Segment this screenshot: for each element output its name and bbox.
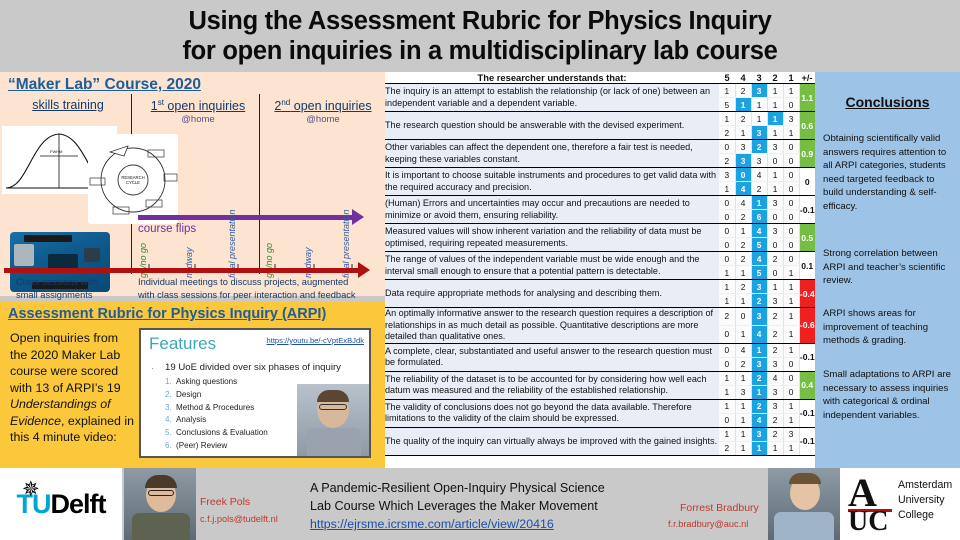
svg-text:FWHM: FWHM bbox=[50, 149, 62, 154]
score-cell: 1 bbox=[719, 371, 735, 385]
score-cell: 2 bbox=[735, 280, 751, 294]
auc-wordmark: Amsterdam University College bbox=[898, 478, 952, 523]
score-cell: 4 bbox=[751, 413, 767, 427]
score-cell: 0 bbox=[783, 238, 799, 252]
course-flips-arrow bbox=[138, 215, 353, 220]
score-cell: 2 bbox=[719, 154, 735, 168]
auc-mark-uc: UC bbox=[848, 508, 888, 536]
table-row: An optimally informative answer to the r… bbox=[385, 308, 815, 326]
table-row: The inquiry is an attempt to establish t… bbox=[385, 84, 815, 98]
score-cell: 0 bbox=[719, 238, 735, 252]
score-cell: 2 bbox=[751, 140, 767, 154]
course-flips-label: course flips bbox=[138, 223, 196, 235]
score-cell: 1 bbox=[719, 84, 735, 98]
score-cell: 1 bbox=[783, 294, 799, 308]
phase-heading-skills-training: skills training bbox=[8, 98, 128, 112]
score-cell: 1 bbox=[783, 413, 799, 427]
conclusion-paragraph-2: Strong correlation between ARPI and teac… bbox=[823, 247, 955, 288]
column-header-score-3: 3 bbox=[751, 72, 767, 84]
rubric-statement-cell: The range of values of the independent v… bbox=[385, 252, 719, 280]
rubric-table-panel: The researcher understands that: 5 4 3 2… bbox=[385, 72, 815, 468]
score-cell: 3 bbox=[767, 224, 783, 238]
score-cell: 0 bbox=[767, 154, 783, 168]
score-cell: 1 bbox=[783, 280, 799, 294]
rubric-statement-cell: A complete, clear, substantiated and use… bbox=[385, 343, 719, 371]
score-cell: 0 bbox=[783, 98, 799, 112]
score-cell: 3 bbox=[783, 112, 799, 126]
score-cell: 0 bbox=[719, 210, 735, 224]
score-cell: 1 bbox=[719, 182, 735, 196]
rubric-table: The researcher understands that: 5 4 3 2… bbox=[385, 72, 815, 456]
score-cell: 3 bbox=[767, 357, 783, 371]
author-email-forrest-bradbury: f.r.bradbury@auc.nl bbox=[668, 519, 748, 529]
score-cell: 0 bbox=[719, 224, 735, 238]
score-cell: 6 bbox=[751, 210, 767, 224]
delta-cell: 0.6 bbox=[799, 112, 815, 140]
score-cell: 1 bbox=[735, 294, 751, 308]
score-cell: 2 bbox=[751, 182, 767, 196]
video-phase-item: 5.Conclusions & Evaluation bbox=[165, 427, 268, 440]
score-cell: 1 bbox=[783, 126, 799, 140]
delta-cell: -0.1 bbox=[799, 399, 815, 427]
delta-cell: 0.1 bbox=[799, 252, 815, 280]
score-cell: 3 bbox=[751, 154, 767, 168]
rubric-statement-cell: It is important to choose suitable instr… bbox=[385, 168, 719, 196]
score-cell: 1 bbox=[719, 280, 735, 294]
video-bullet-line: · 19 UoE divided over six phases of inqu… bbox=[151, 362, 341, 373]
table-row: (Human) Errors and uncertainties may occ… bbox=[385, 196, 815, 210]
delta-cell: 1.1 bbox=[799, 84, 815, 112]
score-cell: 1 bbox=[751, 98, 767, 112]
score-cell: 1 bbox=[735, 413, 751, 427]
score-cell: 4 bbox=[735, 182, 751, 196]
video-phase-item: 2.Design bbox=[165, 389, 268, 402]
rubric-statement-cell: The inquiry is an attempt to establish t… bbox=[385, 84, 719, 112]
score-cell: 1 bbox=[719, 266, 735, 280]
score-cell: 2 bbox=[767, 252, 783, 266]
arpi-description-part1: Open inquiries from the 2020 Maker Lab c… bbox=[10, 331, 121, 395]
auc-line-3: College bbox=[898, 508, 952, 523]
score-cell: 1 bbox=[735, 427, 751, 441]
paper-url-link[interactable]: https://ejrsme.icrsme.com/article/view/2… bbox=[310, 517, 554, 531]
score-cell: 2 bbox=[719, 441, 735, 455]
video-bullet-text: 19 UoE divided over six phases of inquir… bbox=[165, 362, 341, 373]
phase2-sup: nd bbox=[281, 98, 290, 107]
video-features-heading: Features bbox=[149, 334, 216, 354]
score-cell: 2 bbox=[735, 210, 751, 224]
score-cell: 1 bbox=[735, 98, 751, 112]
score-cell: 1 bbox=[735, 371, 751, 385]
score-cell: 0 bbox=[719, 140, 735, 154]
score-cell: 1 bbox=[767, 441, 783, 455]
rubric-statement-cell: Measured values will show inherent varia… bbox=[385, 224, 719, 252]
score-cell: 0 bbox=[719, 343, 735, 357]
score-cell: 0 bbox=[735, 308, 751, 326]
phase1-text: open inquiries bbox=[164, 99, 245, 113]
score-cell: 2 bbox=[751, 371, 767, 385]
phase2-sublabel: @home bbox=[262, 114, 384, 125]
score-cell: 1 bbox=[767, 126, 783, 140]
score-cell: 2 bbox=[767, 325, 783, 343]
author-name-forrest-bradbury: Forrest Bradbury bbox=[680, 502, 759, 514]
bullet-dot-icon: · bbox=[151, 363, 154, 374]
table-row: The validity of conclusions does not go … bbox=[385, 399, 815, 413]
score-cell: 0 bbox=[783, 385, 799, 399]
score-cell: 0 bbox=[719, 196, 735, 210]
rubric-statement-cell: The reliability of the dataset is to be … bbox=[385, 371, 719, 399]
rubric-statement-cell: The validity of conclusions does not go … bbox=[385, 399, 719, 427]
rubric-statement-cell: (Human) Errors and uncertainties may occ… bbox=[385, 196, 719, 224]
poster-title-line-2: for open inquiries in a multidisciplinar… bbox=[182, 36, 777, 66]
column-header-score-5: 5 bbox=[719, 72, 735, 84]
score-cell: 1 bbox=[751, 441, 767, 455]
poster-header: Using the Assessment Rubric for Physics … bbox=[0, 0, 960, 72]
score-cell: 1 bbox=[735, 224, 751, 238]
video-phase-list: 1.Asking questions 2.Design 3.Method & P… bbox=[165, 376, 268, 453]
score-cell: 0 bbox=[719, 325, 735, 343]
score-cell: 3 bbox=[767, 399, 783, 413]
score-cell: 1 bbox=[719, 294, 735, 308]
score-cell: 1 bbox=[735, 126, 751, 140]
author-name-freek-pols: Freek Pols bbox=[200, 496, 250, 508]
score-cell: 3 bbox=[767, 294, 783, 308]
score-cell: 2 bbox=[767, 308, 783, 326]
paper-title-line-1: A Pandemic-Resilient Open-Inquiry Physic… bbox=[310, 481, 605, 495]
score-cell: 3 bbox=[751, 357, 767, 371]
conclusion-paragraph-4: Small adaptations to ARPI are necessary … bbox=[823, 368, 955, 422]
rubric-statement-cell: The research question should be answerab… bbox=[385, 112, 719, 140]
delta-cell: -0.1 bbox=[799, 427, 815, 455]
video-phase-item: 3.Method & Procedures bbox=[165, 402, 268, 415]
score-cell: 1 bbox=[767, 280, 783, 294]
score-cell: 0 bbox=[783, 252, 799, 266]
phase1-num: 1 bbox=[151, 99, 158, 113]
phase-heading-first-open-inquiries: 1st open inquiries bbox=[134, 98, 262, 113]
video-phase-item: 4.Analysis bbox=[165, 414, 268, 427]
score-cell: 1 bbox=[767, 112, 783, 126]
paper-title-line-2: Lab Course Which Leverages the Maker Mov… bbox=[310, 499, 598, 513]
table-row: The quality of the inquiry can virtually… bbox=[385, 427, 815, 441]
score-cell: 0 bbox=[719, 357, 735, 371]
score-cell: 0 bbox=[719, 413, 735, 427]
score-cell: 4 bbox=[735, 343, 751, 357]
score-cell: 1 bbox=[783, 441, 799, 455]
table-row: The reliability of the dataset is to be … bbox=[385, 371, 815, 385]
score-cell: 5 bbox=[719, 98, 735, 112]
phase-divider-2 bbox=[259, 94, 260, 274]
score-cell: 4 bbox=[767, 371, 783, 385]
tudelft-logo: ✵ TUDelft bbox=[0, 468, 122, 540]
rubric-statement-cell: The quality of the inquiry can virtually… bbox=[385, 427, 719, 455]
video-phase-item: 6.(Peer) Review bbox=[165, 440, 268, 453]
delta-cell: -0.1 bbox=[799, 343, 815, 371]
score-cell: 3 bbox=[767, 196, 783, 210]
delta-cell: 0 bbox=[799, 168, 815, 196]
score-cell: 2 bbox=[751, 294, 767, 308]
score-cell: 3 bbox=[751, 427, 767, 441]
auc-line-1: Amsterdam bbox=[898, 478, 952, 493]
course-timeline-panel: “Maker Lab” Course, 2020 skills training… bbox=[0, 72, 385, 296]
rubric-table-head: The researcher understands that: 5 4 3 2… bbox=[385, 72, 815, 84]
score-cell: 1 bbox=[767, 84, 783, 98]
rubric-statement-cell: An optimally informative answer to the r… bbox=[385, 308, 719, 344]
score-cell: 2 bbox=[767, 427, 783, 441]
score-cell: 1 bbox=[735, 441, 751, 455]
delta-cell: 0.4 bbox=[799, 371, 815, 399]
rubric-table-body: The inquiry is an attempt to establish t… bbox=[385, 84, 815, 456]
score-cell: 2 bbox=[735, 84, 751, 98]
score-cell: 1 bbox=[783, 84, 799, 98]
course-timeline-arrow bbox=[4, 268, 359, 273]
caption-individual-meetings: Individual meetings to discuss projects,… bbox=[138, 276, 383, 301]
column-header-score-4: 4 bbox=[735, 72, 751, 84]
score-cell: 2 bbox=[735, 252, 751, 266]
score-cell: 1 bbox=[783, 399, 799, 413]
column-header-delta: +/- bbox=[799, 72, 815, 84]
poster-title-line-1: Using the Assessment Rubric for Physics … bbox=[189, 6, 772, 36]
delta-cell: -0.6 bbox=[799, 308, 815, 344]
arpi-panel: Assessment Rubric for Physics Inquiry (A… bbox=[0, 302, 385, 468]
milestone-label-2: midway bbox=[184, 247, 194, 278]
delta-cell: 0.9 bbox=[799, 140, 815, 168]
score-cell: 0 bbox=[735, 168, 751, 182]
score-cell: 0 bbox=[783, 196, 799, 210]
score-cell: 1 bbox=[751, 385, 767, 399]
left-column: “Maker Lab” Course, 2020 skills training… bbox=[0, 72, 385, 468]
score-cell: 4 bbox=[751, 252, 767, 266]
score-cell: 3 bbox=[735, 140, 751, 154]
rubric-statement-cell: Other variables can affect the dependent… bbox=[385, 140, 719, 168]
conclusions-panel: Conclusions Obtaining scientifically val… bbox=[815, 72, 960, 468]
score-cell: 2 bbox=[719, 308, 735, 326]
table-row: The research question should be answerab… bbox=[385, 112, 815, 126]
table-row: A complete, clear, substantiated and use… bbox=[385, 343, 815, 357]
rubric-statement-cell: Data require appropriate methods for ana… bbox=[385, 280, 719, 308]
table-row: The range of values of the independent v… bbox=[385, 252, 815, 266]
score-cell: 1 bbox=[767, 182, 783, 196]
auc-line-2: University bbox=[898, 493, 952, 508]
column-header-score-1: 1 bbox=[783, 72, 799, 84]
conclusion-paragraph-3: ARPI shows areas for improvement of teac… bbox=[823, 307, 955, 348]
score-cell: 4 bbox=[751, 224, 767, 238]
table-row: Data require appropriate methods for ana… bbox=[385, 280, 815, 294]
milestone-label-5: midway bbox=[303, 247, 313, 278]
score-cell: 2 bbox=[735, 112, 751, 126]
score-cell: 1 bbox=[783, 325, 799, 343]
delta-cell: 0.5 bbox=[799, 224, 815, 252]
conclusions-title: Conclusions bbox=[815, 94, 960, 110]
delta-cell: -0.4 bbox=[799, 280, 815, 308]
arpi-panel-title: Assessment Rubric for Physics Inquiry (A… bbox=[8, 306, 326, 322]
table-row: Measured values will show inherent varia… bbox=[385, 224, 815, 238]
score-cell: 0 bbox=[783, 224, 799, 238]
score-cell: 0 bbox=[783, 357, 799, 371]
score-cell: 3 bbox=[767, 385, 783, 399]
score-cell: 0 bbox=[783, 168, 799, 182]
table-row: It is important to choose suitable instr… bbox=[385, 168, 815, 182]
photo-forrest-bradbury bbox=[768, 468, 840, 540]
score-cell: 2 bbox=[719, 126, 735, 140]
score-cell: 3 bbox=[751, 308, 767, 326]
table-row: Other variables can affect the dependent… bbox=[385, 140, 815, 154]
score-cell: 3 bbox=[751, 280, 767, 294]
score-cell: 1 bbox=[767, 168, 783, 182]
score-cell: 4 bbox=[751, 325, 767, 343]
poster-footer: ✵ TUDelft Freek Pols c.f.j.pols@tudelft.… bbox=[0, 468, 960, 540]
delta-cell: -0.1 bbox=[799, 196, 815, 224]
score-cell: 4 bbox=[735, 196, 751, 210]
auc-logo: A UC Amsterdam University College bbox=[840, 468, 960, 540]
phase1-sublabel: @home bbox=[134, 114, 262, 125]
score-cell: 0 bbox=[767, 238, 783, 252]
score-cell: 3 bbox=[751, 84, 767, 98]
svg-text:CYCLE: CYCLE bbox=[126, 180, 140, 185]
score-cell: 0 bbox=[767, 266, 783, 280]
score-cell: 3 bbox=[751, 126, 767, 140]
score-cell: 3 bbox=[767, 140, 783, 154]
score-cell: 5 bbox=[751, 238, 767, 252]
score-cell: 2 bbox=[735, 357, 751, 371]
score-cell: 3 bbox=[783, 427, 799, 441]
score-cell: 1 bbox=[783, 343, 799, 357]
author-email-freek-pols: c.f.j.pols@tudelft.nl bbox=[200, 514, 278, 524]
column-header-statement: The researcher understands that: bbox=[385, 72, 719, 84]
score-cell: 0 bbox=[783, 154, 799, 168]
score-cell: 0 bbox=[783, 371, 799, 385]
score-cell: 1 bbox=[751, 112, 767, 126]
score-cell: 2 bbox=[735, 238, 751, 252]
score-cell: 1 bbox=[719, 399, 735, 413]
video-link[interactable]: https://youtu.be/-cVptExBJdk bbox=[266, 336, 364, 345]
score-cell: 5 bbox=[751, 266, 767, 280]
phase2-text: open inquiries bbox=[290, 99, 371, 113]
score-cell: 1 bbox=[735, 325, 751, 343]
score-cell: 2 bbox=[767, 413, 783, 427]
score-cell: 3 bbox=[735, 154, 751, 168]
arpi-description: Open inquiries from the 2020 Maker Lab c… bbox=[10, 330, 135, 446]
score-cell: 1 bbox=[719, 385, 735, 399]
score-cell: 1 bbox=[783, 266, 799, 280]
score-cell: 4 bbox=[751, 168, 767, 182]
research-cycle-figure: RESEARCH CYCLE bbox=[88, 134, 178, 224]
photo-freek-pols bbox=[124, 468, 196, 540]
score-cell: 1 bbox=[751, 343, 767, 357]
score-cell: 0 bbox=[783, 210, 799, 224]
video-phase-item: 1.Asking questions bbox=[165, 376, 268, 389]
score-cell: 0 bbox=[783, 182, 799, 196]
score-cell: 1 bbox=[751, 196, 767, 210]
course-panel-title: “Maker Lab” Course, 2020 bbox=[8, 76, 201, 94]
score-cell: 1 bbox=[719, 427, 735, 441]
video-thumbnail-card[interactable]: Features https://youtu.be/-cVptExBJdk · … bbox=[139, 328, 371, 458]
score-cell: 0 bbox=[767, 210, 783, 224]
phase-heading-second-open-inquiries: 2nd open inquiries bbox=[262, 98, 384, 113]
video-presenter-photo bbox=[297, 384, 369, 456]
score-cell: 3 bbox=[719, 168, 735, 182]
score-cell: 2 bbox=[751, 399, 767, 413]
score-cell: 1 bbox=[719, 112, 735, 126]
score-cell: 1 bbox=[767, 98, 783, 112]
score-cell: 1 bbox=[735, 266, 751, 280]
score-cell: 0 bbox=[783, 140, 799, 154]
score-cell: 1 bbox=[735, 399, 751, 413]
tudelft-flame-icon: ✵ bbox=[22, 479, 44, 501]
caption-class-sessions: Class sessions with small assignments bbox=[16, 276, 126, 301]
tudelft-delft: Delft bbox=[51, 489, 106, 519]
score-cell: 1 bbox=[783, 308, 799, 326]
conclusion-paragraph-1: Obtaining scientifically valid answers r… bbox=[823, 132, 955, 214]
score-cell: 2 bbox=[767, 343, 783, 357]
score-cell: 3 bbox=[735, 385, 751, 399]
column-header-score-2: 2 bbox=[767, 72, 783, 84]
score-cell: 0 bbox=[719, 252, 735, 266]
